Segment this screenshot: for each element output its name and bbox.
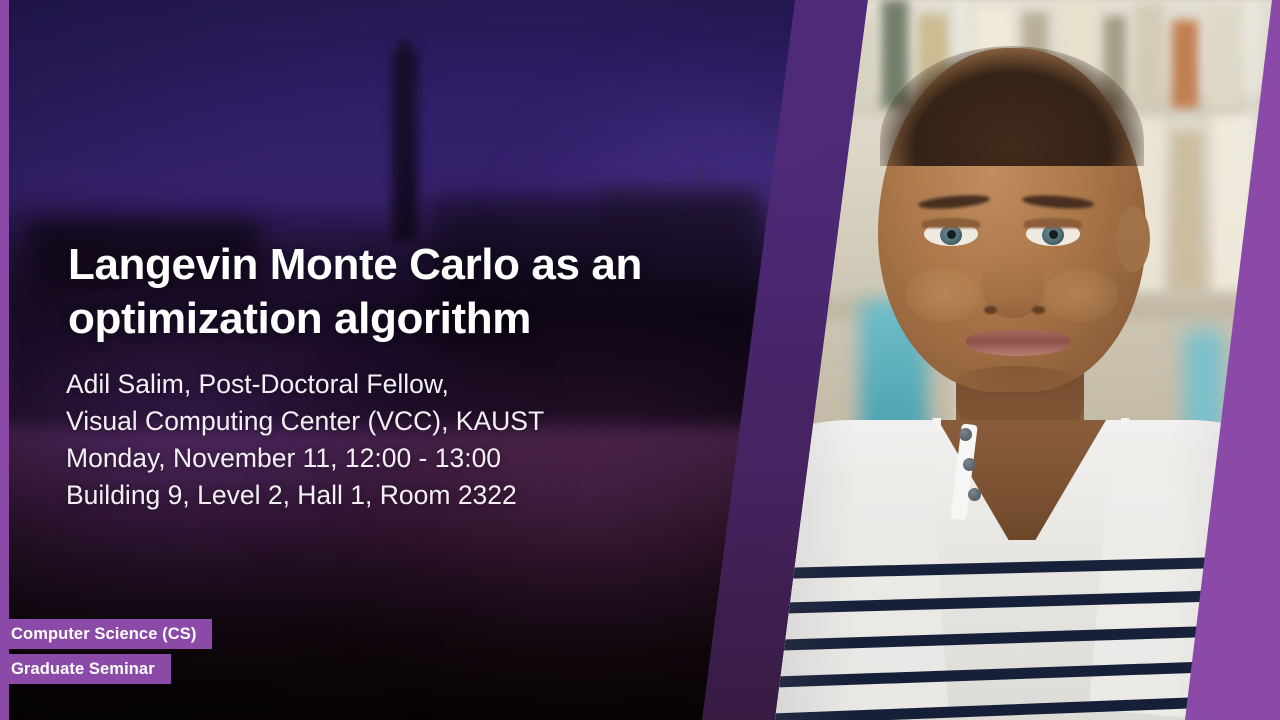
seminar-title: Langevin Monte Carlo as an optimization …: [68, 238, 728, 345]
seminar-details: Adil Salim, Post-Doctoral Fellow, Visual…: [66, 366, 746, 514]
badge-department[interactable]: Computer Science (CS): [0, 619, 212, 649]
detail-line-datetime: Monday, November 11, 12:00 - 13:00: [66, 440, 746, 477]
detail-line-location: Building 9, Level 2, Hall 1, Room 2322: [66, 477, 746, 514]
seminar-announcement-slide: Langevin Monte Carlo as an optimization …: [0, 0, 1280, 720]
detail-line-affiliation: Visual Computing Center (VCC), KAUST: [66, 403, 746, 440]
detail-line-speaker: Adil Salim, Post-Doctoral Fellow,: [66, 366, 746, 403]
left-accent-bar: [0, 0, 9, 720]
badge-event-type[interactable]: Graduate Seminar: [0, 654, 171, 684]
